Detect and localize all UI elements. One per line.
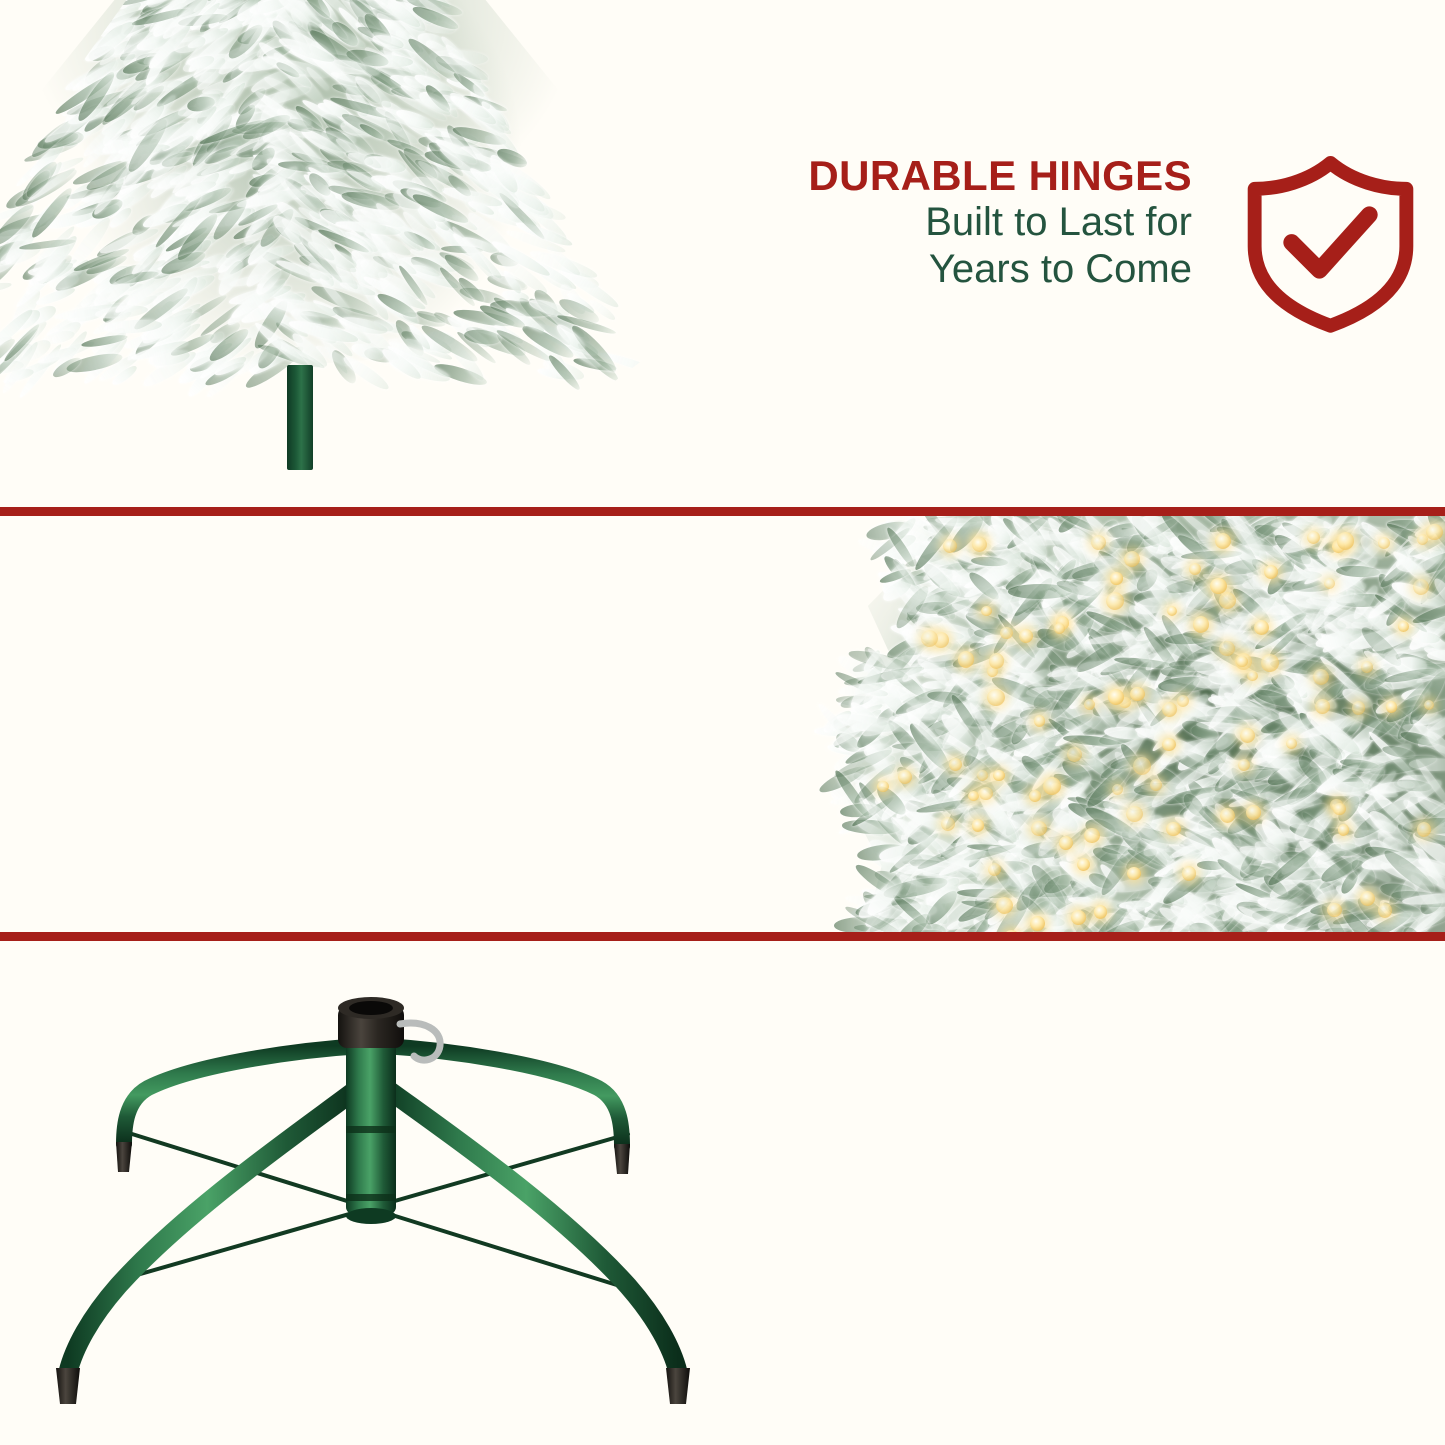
- stand-foot-back-right: [614, 1144, 630, 1174]
- green-folding-metal-tree-stand-photo: [28, 976, 718, 1406]
- feature-headline: DURABLE HINGES: [672, 152, 1192, 199]
- tree-flocked-needles: [0, 0, 650, 507]
- divider-bottom: [0, 932, 1445, 941]
- stand-foot-back-left: [116, 1142, 132, 1172]
- feature-panel-sturdy-base: STURDY BASE Foldable Metal Tree Stand fo…: [0, 941, 1445, 1445]
- feature-subline-2: Years to Come: [672, 246, 1192, 293]
- shield-check-icon: [1238, 150, 1423, 335]
- divider-top: [0, 507, 1445, 516]
- stand-leg-back-left: [124, 1046, 362, 1144]
- infographic-page: DURABLE HINGES Built to Last for Years t…: [0, 0, 1445, 1445]
- flocked-christmas-tree-base-photo: [0, 0, 650, 507]
- prelit-flocked-tree-closeup-photo: [805, 516, 1445, 932]
- stand-foot-front-left: [56, 1368, 80, 1404]
- tree-center-pole: [287, 365, 313, 470]
- stand-leg-front-left: [68, 1088, 358, 1372]
- feature-panel-pvc-branches: PVC BRANCHES Long Lasting Fire Retardant…: [0, 516, 1445, 932]
- stand-foot-front-right: [666, 1368, 690, 1404]
- feature-subline-1: Built to Last for: [672, 199, 1192, 246]
- stand-leg-front-right: [386, 1088, 678, 1372]
- feature-text-durable-hinges: DURABLE HINGES Built to Last for Years t…: [672, 152, 1192, 293]
- stand-center-post: [346, 1024, 396, 1214]
- warm-white-lights: [805, 516, 1445, 932]
- feature-panel-durable-hinges: DURABLE HINGES Built to Last for Years t…: [0, 0, 1445, 507]
